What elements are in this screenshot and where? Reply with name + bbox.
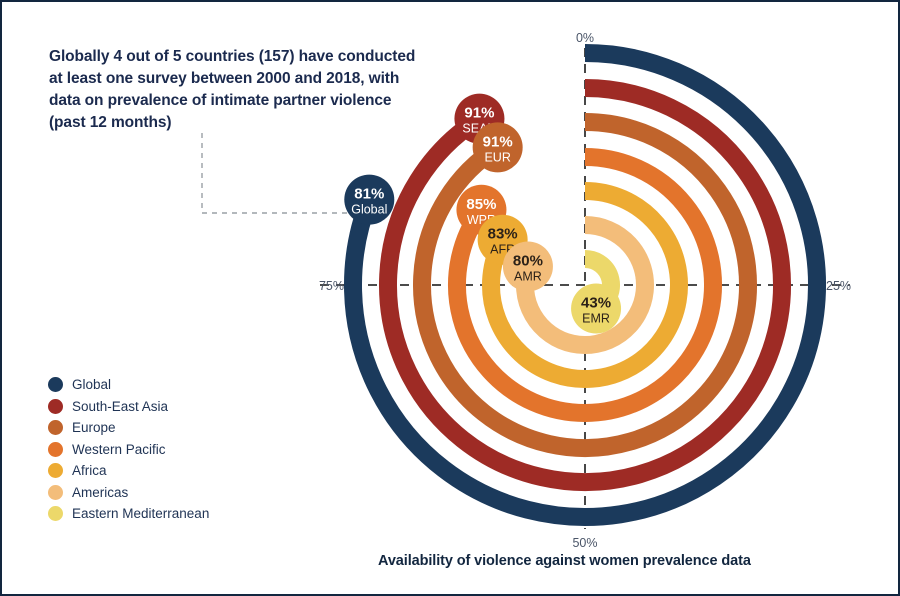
value-bubble-amr[interactable]: 80%AMR [503,241,553,291]
legend-item-label: South-East Asia [72,399,168,414]
bubble-region-code: AMR [514,269,542,283]
legend-color-swatch [48,485,63,500]
legend-color-swatch [48,399,63,414]
legend-color-swatch [48,463,63,478]
bubble-percent: 81% [354,186,384,203]
bubble-region-code: EUR [484,150,510,164]
legend-item-africa[interactable]: Africa [48,460,298,482]
legend-color-swatch [48,377,63,392]
legend-item-global[interactable]: Global [48,374,298,396]
bubble-percent: 80% [513,252,543,269]
legend-item-americas[interactable]: Americas [48,482,298,504]
legend-item-eastern-mediterranean[interactable]: Eastern Mediterranean [48,503,298,525]
bubble-percent: 91% [464,105,494,122]
axis-label-top: 0% [576,31,594,45]
legend-item-europe[interactable]: Europe [48,417,298,439]
legend-color-swatch [48,420,63,435]
bubble-percent: 85% [466,196,496,213]
bubble-region-code: EMR [582,312,610,326]
legend-item-south-east-asia[interactable]: South-East Asia [48,396,298,418]
legend-color-swatch [48,442,63,457]
axis-label-bottom: 50% [572,536,597,550]
chart-caption: Availability of violence against women p… [378,553,751,569]
axis-label-right: 25% [826,279,851,293]
axis-label-left: 75% [319,279,344,293]
value-bubble-eur[interactable]: 91%EUR [473,122,523,172]
legend-item-western-pacific[interactable]: Western Pacific [48,439,298,461]
legend-item-label: Global [72,377,111,392]
bubble-region-code: Global [351,203,387,217]
legend-item-label: Eastern Mediterranean [72,506,209,521]
legend: GlobalSouth-East AsiaEuropeWestern Pacif… [48,374,298,525]
value-bubble-global[interactable]: 81%Global [344,175,394,225]
bubble-percent: 91% [483,133,513,150]
infographic-canvas: Globally 4 out of 5 countries (157) have… [0,0,900,596]
legend-item-label: Africa [72,463,107,478]
bubble-percent: 43% [581,295,611,312]
value-bubble-emr[interactable]: 43%EMR [571,284,621,334]
legend-item-label: Western Pacific [72,442,166,457]
legend-item-label: Europe [72,420,116,435]
leader-line [202,133,360,213]
bubble-percent: 83% [488,226,518,243]
legend-color-swatch [48,506,63,521]
legend-item-label: Americas [72,485,128,500]
